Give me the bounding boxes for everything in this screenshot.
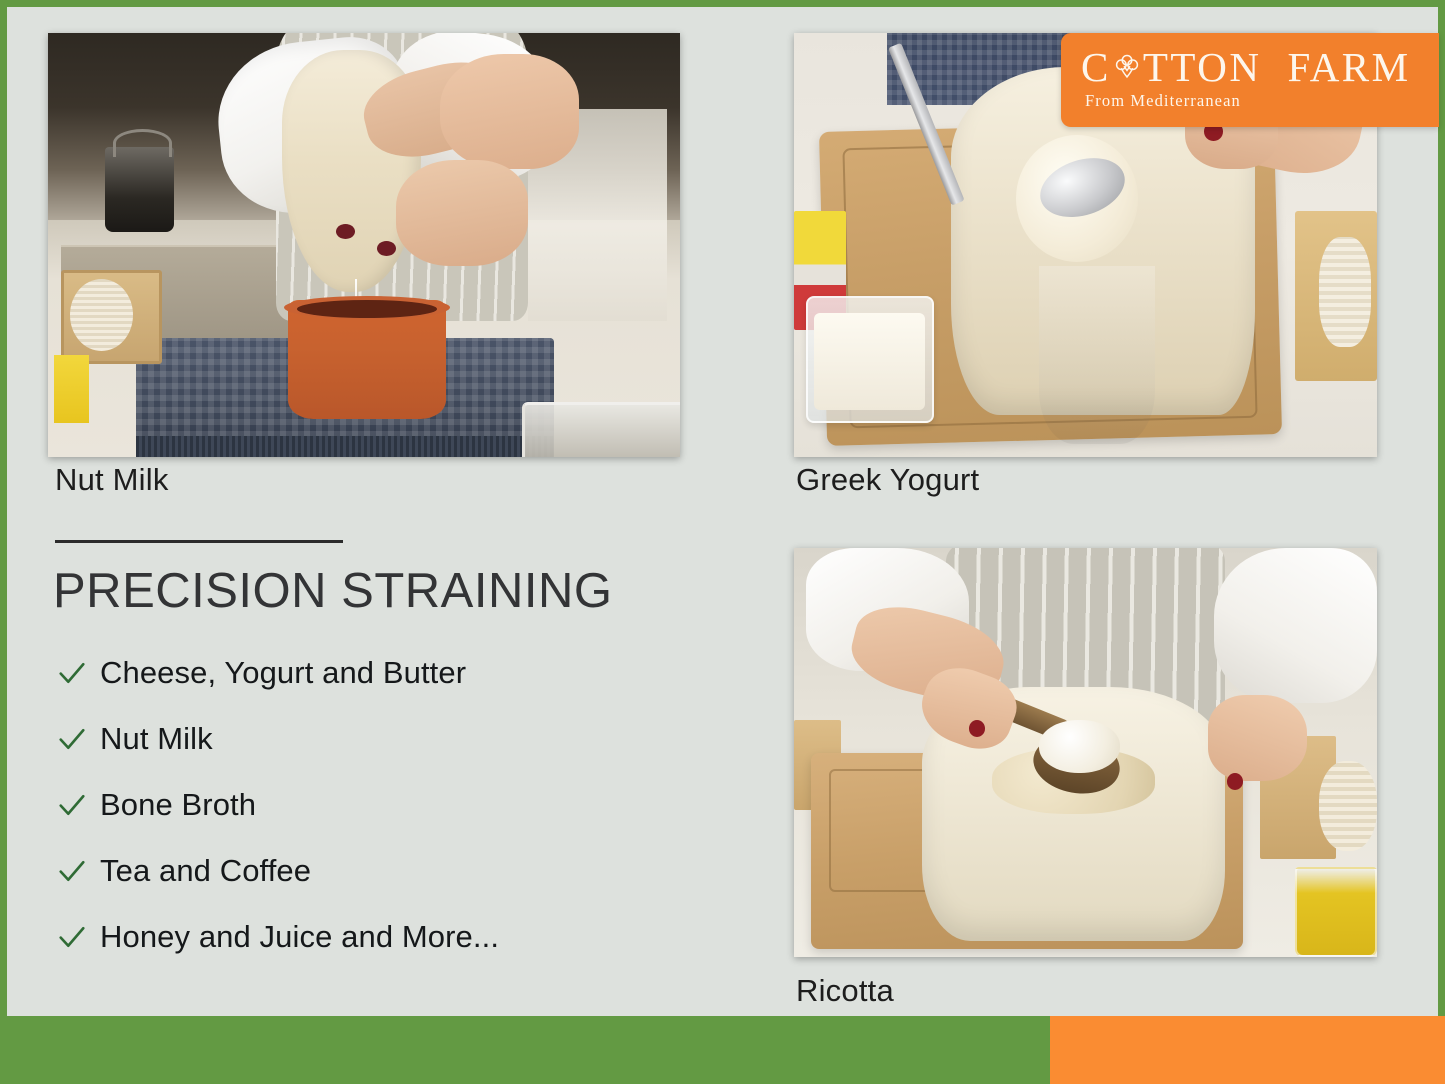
benefit-label: Nut Milk xyxy=(100,721,213,757)
cotton-cloth-roll xyxy=(1319,761,1377,851)
check-icon xyxy=(57,790,87,820)
brand-name-part-1: C xyxy=(1081,47,1111,89)
content-panel: C TTON FARM From Mediterranean xyxy=(7,7,1438,1016)
check-icon xyxy=(57,724,87,754)
bottom-bar-orange xyxy=(1050,1016,1445,1084)
check-icon xyxy=(57,922,87,952)
brand-name-part-2: TTON xyxy=(1143,47,1262,89)
caption-ricotta: Ricotta xyxy=(796,973,894,1009)
folded-cloth-roll xyxy=(1319,237,1371,347)
ricotta-scene xyxy=(794,548,1377,957)
brand-name: C TTON FARM xyxy=(1081,47,1425,89)
benefits-list: Cheese, Yogurt and Butter Nut Milk Bone … xyxy=(57,640,697,970)
right-hand xyxy=(1208,695,1307,781)
section-divider xyxy=(55,540,343,543)
photo-ricotta xyxy=(794,548,1377,957)
list-item: Bone Broth xyxy=(57,772,697,838)
caption-greek-yogurt: Greek Yogurt xyxy=(796,462,979,498)
ricotta-on-spoon xyxy=(1039,720,1121,773)
red-nail xyxy=(969,720,985,737)
list-item: Nut Milk xyxy=(57,706,697,772)
right-white-sleeve xyxy=(1214,548,1377,703)
nut-milk-scene xyxy=(48,33,680,457)
list-item: Tea and Coffee xyxy=(57,838,697,904)
red-nail xyxy=(377,241,397,256)
check-icon xyxy=(57,658,87,688)
juice-glass xyxy=(1295,867,1377,957)
kettle-appliance xyxy=(105,147,175,232)
brand-name-part-3: FARM xyxy=(1287,47,1410,89)
glass-tray xyxy=(522,402,680,457)
cotton-string-spool xyxy=(70,279,133,351)
towel-fringe xyxy=(136,436,553,457)
red-nail xyxy=(1227,773,1243,790)
infographic-canvas: C TTON FARM From Mediterranean xyxy=(0,0,1445,1084)
list-item: Honey and Juice and More... xyxy=(57,904,697,970)
check-icon xyxy=(57,856,87,886)
caption-nut-milk: Nut Milk xyxy=(55,462,169,498)
yellow-package-box xyxy=(54,355,89,423)
list-item: Cheese, Yogurt and Butter xyxy=(57,640,697,706)
page-title: PRECISION STRAINING xyxy=(53,563,612,619)
benefit-label: Bone Broth xyxy=(100,787,256,823)
brand-logo-banner: C TTON FARM From Mediterranean xyxy=(1061,33,1439,127)
yogurt-in-bowl xyxy=(814,313,925,411)
cotton-boll-icon xyxy=(1112,47,1142,89)
cheesecloth-fold xyxy=(1039,266,1156,444)
photo-nut-milk xyxy=(48,33,680,457)
pot-interior xyxy=(297,300,437,318)
brand-tagline: From Mediterranean xyxy=(1085,91,1425,111)
benefit-label: Cheese, Yogurt and Butter xyxy=(100,655,466,691)
bottom-bar-green xyxy=(0,1016,1050,1084)
upper-hand xyxy=(440,54,579,168)
lower-hand xyxy=(396,160,529,266)
benefit-label: Tea and Coffee xyxy=(100,853,311,889)
red-nail xyxy=(336,224,356,239)
benefit-label: Honey and Juice and More... xyxy=(100,919,499,955)
